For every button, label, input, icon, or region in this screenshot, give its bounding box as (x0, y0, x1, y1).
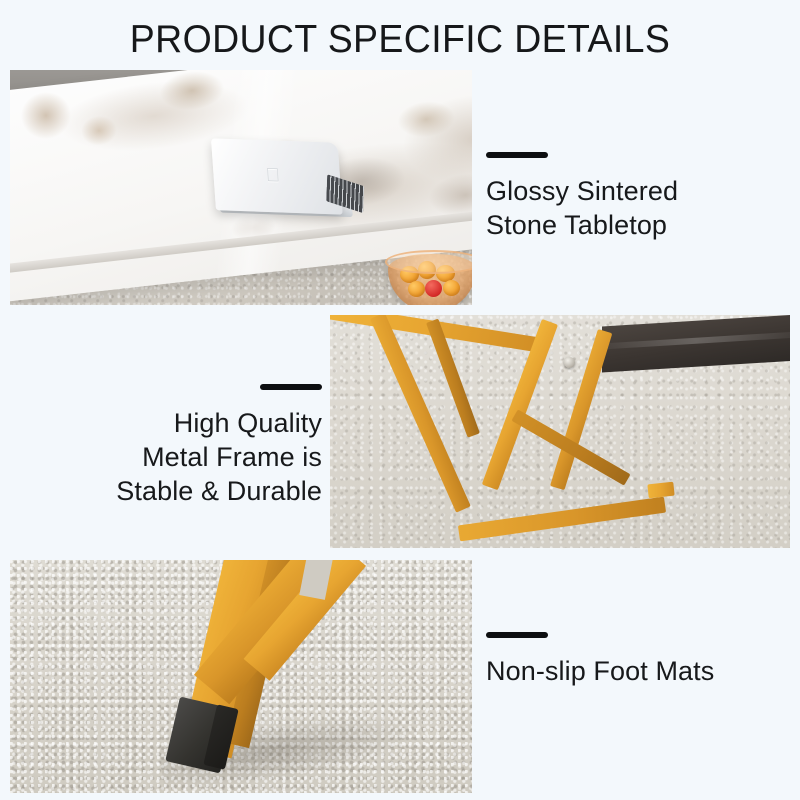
frame-foot-right (647, 482, 674, 499)
feature-image-foot (10, 560, 472, 793)
feature-image-frame (330, 315, 790, 548)
feature-caption-text: Non-slip Foot Mats (486, 654, 714, 688)
feature-image-tabletop:  (10, 70, 472, 305)
product-details-infographic: PRODUCT SPECIFIC DETAILS  Glossy (0, 0, 800, 800)
fruit-item (408, 281, 425, 297)
page-title: PRODUCT SPECIFIC DETAILS (16, 18, 784, 62)
fruit-bowl (388, 248, 472, 305)
feature-caption-text: Glossy Sintered Stone Tabletop (486, 174, 678, 242)
strawberry (425, 280, 442, 297)
apple-logo-icon:  (265, 166, 283, 186)
screw-icon (564, 357, 575, 368)
dash-rule-icon (260, 384, 322, 390)
dash-rule-icon (486, 632, 548, 638)
laptop-lid:  (211, 138, 343, 214)
feature-caption-frame: High Quality Metal Frame is Stable & Dur… (92, 384, 322, 508)
feature-caption-foot: Non-slip Foot Mats (486, 632, 714, 688)
feature-caption-tabletop: Glossy Sintered Stone Tabletop (486, 152, 678, 242)
fruit-item (443, 280, 460, 296)
bowl-rim (385, 250, 472, 274)
laptop:  (205, 135, 360, 223)
dash-rule-icon (486, 152, 548, 158)
feature-caption-text: High Quality Metal Frame is Stable & Dur… (92, 406, 322, 508)
